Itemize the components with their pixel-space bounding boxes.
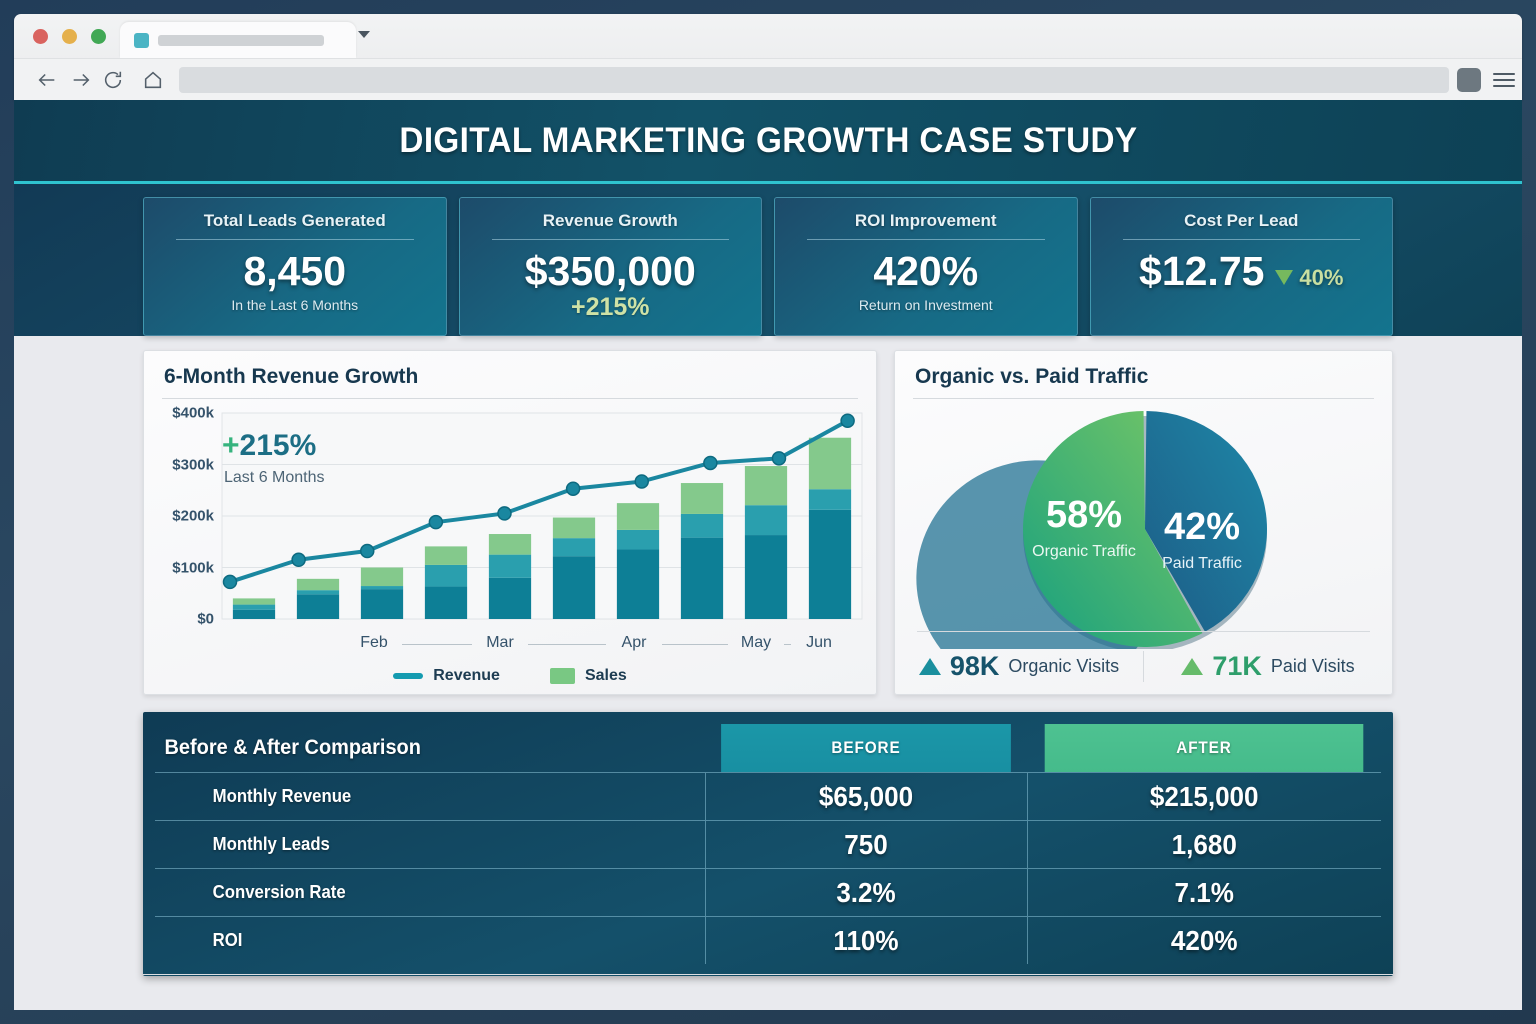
- kpi-value: $350,000: [482, 250, 740, 293]
- divider: [1123, 239, 1361, 240]
- row-before-value: 110%: [716, 917, 1015, 965]
- x-axis-dash: [402, 644, 472, 645]
- tab-title-placeholder: [158, 35, 324, 46]
- table-row: Monthly Leads7501,680: [155, 821, 1381, 869]
- row-after-value: 1,680: [1039, 821, 1368, 869]
- table-body: Monthly Revenue$65,000$215,000Monthly Le…: [155, 773, 1381, 965]
- row-after-value: 420%: [1039, 917, 1368, 965]
- column-header-before: BEFORE: [721, 724, 1011, 773]
- comparison-table-panel: Before & After Comparison BEFORE AFTER M…: [143, 712, 1393, 976]
- reload-icon[interactable]: [102, 69, 124, 91]
- before-after-table: Before & After Comparison BEFORE AFTER M…: [155, 724, 1381, 964]
- svg-text:Organic Traffic: Organic Traffic: [1032, 543, 1136, 560]
- kpi-change: 40%: [1275, 266, 1343, 289]
- kpi-change-value: 40%: [1299, 266, 1343, 289]
- x-axis-tick-label: Jun: [806, 634, 832, 652]
- kpi-delta: +215%: [482, 293, 740, 322]
- row-before-value: 3.2%: [716, 869, 1015, 917]
- home-icon[interactable]: [142, 69, 164, 91]
- pie-chart-canvas: 58% Organic Traffic 42% Paid Traffic: [895, 399, 1395, 649]
- page-title: DIGITAL MARKETING GROWTH CASE STUDY: [399, 121, 1137, 161]
- kpi-subtext: Return on Investment: [797, 297, 1055, 313]
- table-row: Conversion Rate3.2%7.1%: [155, 869, 1381, 917]
- row-before-value: 750: [716, 821, 1015, 869]
- row-metric-label: Monthly Leads: [155, 821, 667, 869]
- kpi-subtext: In the Last 6 Months: [166, 297, 424, 313]
- kpi-card-cost-per-lead[interactable]: Cost Per Lead $12.75 40%: [1090, 197, 1394, 336]
- x-axis-dash: [662, 644, 728, 645]
- table-header-row: Before & After Comparison BEFORE AFTER: [155, 724, 1381, 773]
- charts-row: 6-Month Revenue Growth $0$100k$200k$300k…: [143, 350, 1393, 695]
- svg-text:58%: 58%: [1046, 494, 1122, 536]
- stat-paid-visits[interactable]: 71K Paid Visits: [1143, 651, 1392, 682]
- stat-value: 71K: [1212, 651, 1262, 682]
- x-axis-tick-label: May: [741, 634, 771, 652]
- forward-icon[interactable]: [70, 69, 92, 91]
- row-before-value: $65,000: [716, 773, 1015, 821]
- table-row: ROI110%420%: [155, 917, 1381, 965]
- menu-icon[interactable]: [1493, 69, 1515, 91]
- divider: [807, 239, 1045, 240]
- arrow-down-icon: [1275, 270, 1293, 285]
- kpi-value: 8,450: [166, 250, 424, 293]
- legend-label: Sales: [585, 667, 627, 685]
- profile-icon[interactable]: [1457, 68, 1481, 92]
- x-axis-tick-label: Apr: [622, 634, 647, 652]
- x-axis-tick-label: Mar: [486, 634, 514, 652]
- legend-line-icon: [393, 673, 423, 679]
- pie-title: Organic vs. Paid Traffic: [895, 351, 1392, 398]
- kpi-label: ROI Improvement: [797, 211, 1055, 239]
- up-arrow-icon: [1181, 658, 1203, 675]
- kpi-card-row: Total Leads Generated 8,450 In the Last …: [14, 184, 1522, 336]
- stat-organic-visits[interactable]: 98K Organic Visits: [895, 651, 1143, 682]
- x-axis: FebMarAprMayJun: [144, 351, 878, 696]
- legend-label: Revenue: [433, 667, 500, 685]
- row-metric-label: Conversion Rate: [155, 869, 667, 917]
- x-axis-tick-label: Feb: [360, 634, 388, 652]
- browser-tab[interactable]: [120, 22, 356, 58]
- kpi-card-total-leads[interactable]: Total Leads Generated 8,450 In the Last …: [143, 197, 447, 336]
- back-icon[interactable]: [36, 69, 58, 91]
- svg-text:Paid Traffic: Paid Traffic: [1162, 555, 1242, 572]
- legend-item-sales[interactable]: Sales: [550, 667, 627, 685]
- divider: [917, 631, 1370, 632]
- kpi-card-revenue-growth[interactable]: Revenue Growth $350,000 +215%: [459, 197, 763, 336]
- kpi-value: $12.75: [1139, 250, 1264, 293]
- x-axis-dash: [784, 644, 791, 645]
- divider: [176, 239, 414, 240]
- page-header: DIGITAL MARKETING GROWTH CASE STUDY: [14, 100, 1522, 184]
- x-axis-dash: [528, 644, 606, 645]
- kpi-label: Cost Per Lead: [1113, 211, 1371, 239]
- tab-favicon-icon: [134, 33, 149, 48]
- browser-toolbar: [14, 58, 1522, 100]
- kpi-value-row: $12.75 40%: [1113, 250, 1371, 293]
- row-metric-label: Monthly Revenue: [155, 773, 667, 821]
- svg-text:42%: 42%: [1164, 506, 1240, 548]
- divider: [492, 239, 730, 240]
- minimize-window-button[interactable]: [62, 29, 77, 44]
- window-controls[interactable]: [33, 29, 106, 44]
- maximize-window-button[interactable]: [91, 29, 106, 44]
- row-after-value: 7.1%: [1039, 869, 1368, 917]
- legend-item-revenue[interactable]: Revenue: [393, 667, 500, 685]
- stat-value: 98K: [950, 651, 1000, 682]
- row-after-value: $215,000: [1039, 773, 1368, 821]
- chart-legend: Revenue Sales: [144, 667, 876, 685]
- kpi-label: Total Leads Generated: [166, 211, 424, 239]
- table-row: Monthly Revenue$65,000$215,000: [155, 773, 1381, 821]
- legend-square-icon: [550, 668, 575, 684]
- address-bar[interactable]: [179, 67, 1449, 93]
- dashboard-body: 6-Month Revenue Growth $0$100k$200k$300k…: [14, 336, 1522, 976]
- close-window-button[interactable]: [33, 29, 48, 44]
- kpi-card-roi-improvement[interactable]: ROI Improvement 420% Return on Investmen…: [774, 197, 1078, 336]
- desktop-screen: DIGITAL MARKETING GROWTH CASE STUDY Tota…: [0, 0, 1536, 1024]
- revenue-growth-panel: 6-Month Revenue Growth $0$100k$200k$300k…: [143, 350, 877, 695]
- stat-label: Organic Visits: [1008, 656, 1119, 677]
- kpi-label: Revenue Growth: [482, 211, 740, 239]
- table-title: Before & After Comparison: [155, 724, 678, 773]
- traffic-split-panel: Organic vs. Paid Traffic: [894, 350, 1393, 695]
- pie-stats-row: 98K Organic Visits 71K Paid Visits: [895, 651, 1392, 682]
- row-metric-label: ROI: [155, 917, 667, 965]
- chevron-down-icon[interactable]: [358, 31, 370, 38]
- tab-strip: [14, 14, 1522, 58]
- kpi-value: 420%: [797, 250, 1055, 293]
- footer-divider: [143, 974, 1393, 975]
- column-header-after: AFTER: [1045, 724, 1364, 773]
- browser-chrome: [14, 14, 1522, 100]
- up-arrow-icon: [919, 658, 941, 675]
- stat-label: Paid Visits: [1271, 656, 1355, 677]
- page-viewport: DIGITAL MARKETING GROWTH CASE STUDY Tota…: [14, 100, 1522, 1010]
